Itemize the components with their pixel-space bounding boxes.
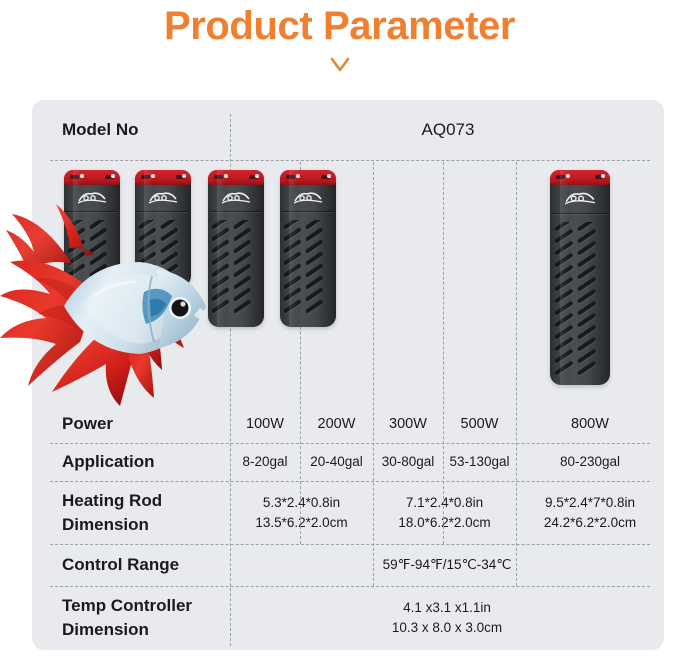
value-cm: 18.0*6.2*2.0cm <box>398 513 490 533</box>
betta-fish-illustration <box>0 196 212 408</box>
cell-application-2: 20-40gal <box>300 443 373 481</box>
row-label-temp-controller-dimension: Temp Controller Dimension <box>62 586 242 650</box>
cap-screw-right <box>182 174 186 178</box>
cap-tab-left <box>70 175 79 179</box>
table-row-power: Power 100W 200W 300W 500W 800W <box>32 405 664 443</box>
table-row-model: Model No AQ073 <box>32 100 664 160</box>
row-label-line1: Temp Controller <box>62 594 192 618</box>
value-inch: 4.1 x3.1 x1.1in <box>403 598 491 618</box>
heater-vents <box>208 220 264 322</box>
table-row-control-range: Control Range 59℉-94℉/15℃-34℃ <box>32 544 664 586</box>
cell-power-100w: 100W <box>230 405 300 443</box>
heater-300w-image <box>208 170 264 327</box>
cell-power-300w: 300W <box>373 405 443 443</box>
column-divider-3 <box>373 162 374 586</box>
table-row-temp-controller-dimension: Temp Controller Dimension 4.1 x3.1 x1.1i… <box>32 586 664 650</box>
row-label-line2: Dimension <box>62 618 149 642</box>
heater-cap <box>550 170 610 185</box>
row-label-model: Model No <box>62 100 242 160</box>
aqqa-crown-logo-icon <box>280 190 336 206</box>
column-divider-5 <box>516 162 517 586</box>
cap-screw-right <box>327 174 331 178</box>
heater-500w-image <box>280 170 336 327</box>
value-cm: 10.3 x 8.0 x 3.0cm <box>392 618 502 638</box>
cap-screw-left <box>296 174 300 178</box>
table-row-heating-rod-dimension: Heating Rod Dimension 5.3*2.4*0.8in 13.5… <box>32 481 664 544</box>
row-label-heating-rod-dimension: Heating Rod Dimension <box>62 481 242 544</box>
heater-cap <box>280 170 336 185</box>
row-label-application: Application <box>62 443 242 481</box>
cap-tab-left <box>214 175 223 179</box>
cell-heating-rod-group-3: 9.5*2.4*7*0.8in 24.2*6.2*2.0cm <box>516 481 664 544</box>
value-inch: 5.3*2.4*0.8in <box>263 493 340 513</box>
cap-screw-left <box>80 174 84 178</box>
cell-model-value: AQ073 <box>232 100 664 160</box>
cap-screw-left <box>566 174 570 178</box>
column-divider-4 <box>443 162 444 544</box>
cap-screw-right <box>601 174 605 178</box>
heater-vents <box>280 220 336 322</box>
cap-tab-left <box>141 175 150 179</box>
value-cm: 24.2*6.2*2.0cm <box>544 513 636 533</box>
heater-seam <box>210 211 263 212</box>
row-label-power: Power <box>62 405 242 443</box>
heater-seam <box>282 211 335 212</box>
aqqa-crown-logo-icon <box>208 190 264 206</box>
aqqa-crown-logo-icon <box>550 190 610 207</box>
value-inch: 7.1*2.4*0.8in <box>406 493 483 513</box>
cell-temp-controller-dimension-value: 4.1 x3.1 x1.1in 10.3 x 8.0 x 3.0cm <box>230 586 664 650</box>
cell-control-range-value: 59℉-94℉/15℃-34℃ <box>230 544 664 586</box>
cell-power-200w: 200W <box>300 405 373 443</box>
cap-screw-left <box>151 174 155 178</box>
row-label-line2: Dimension <box>62 513 149 537</box>
value-cm: 13.5*6.2*2.0cm <box>255 513 347 533</box>
table-row-application: Application 8-20gal 20-40gal 30-80gal 53… <box>32 443 664 481</box>
chevron-down-icon <box>0 56 679 80</box>
heater-vents <box>550 222 610 380</box>
cap-screw-right <box>111 174 115 178</box>
row-label-control-range: Control Range <box>62 544 242 586</box>
value-inch: 9.5*2.4*7*0.8in <box>545 493 635 513</box>
cell-heating-rod-group-1: 5.3*2.4*0.8in 13.5*6.2*2.0cm <box>230 481 373 544</box>
cap-tab-left <box>286 175 295 179</box>
page-title: Product Parameter <box>0 2 679 50</box>
heater-cap <box>208 170 264 185</box>
heater-cap <box>64 170 120 185</box>
cell-application-5: 80-230gal <box>516 443 664 481</box>
cap-tab-left <box>556 175 565 179</box>
cell-power-800w: 800W <box>516 405 664 443</box>
row-label-line1: Heating Rod <box>62 489 162 513</box>
cell-application-4: 53-130gal <box>443 443 516 481</box>
heater-seam <box>552 213 608 214</box>
cell-application-1: 8-20gal <box>230 443 300 481</box>
cell-heating-rod-group-2: 7.1*2.4*0.8in 18.0*6.2*2.0cm <box>373 481 516 544</box>
header: Product Parameter <box>0 0 679 100</box>
heater-800w-image <box>550 170 610 385</box>
cell-application-3: 30-80gal <box>373 443 443 481</box>
cap-screw-right <box>255 174 259 178</box>
heater-cap <box>135 170 191 185</box>
cap-screw-left <box>224 174 228 178</box>
cell-power-500w: 500W <box>443 405 516 443</box>
